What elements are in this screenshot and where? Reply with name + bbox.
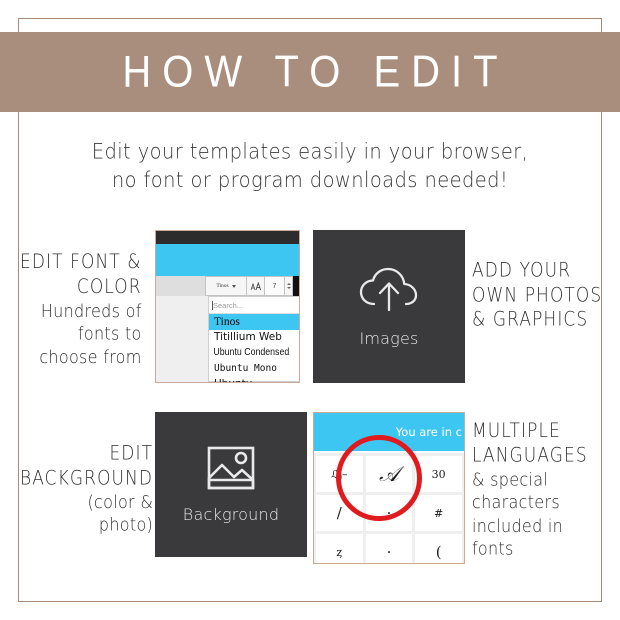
glyph-cell[interactable]: 30 bbox=[415, 456, 462, 492]
font-option-ubuntu-condensed[interactable]: Ubuntu Condensed bbox=[209, 345, 290, 361]
font-size-value: 7 bbox=[273, 283, 277, 290]
toolbar-spacer bbox=[156, 276, 205, 296]
glyph-banner: You are in c bbox=[314, 413, 464, 451]
languages-caps-2: LANGUAGES bbox=[472, 444, 588, 468]
font-color-low-3: choose from bbox=[20, 346, 142, 369]
images-label: Images bbox=[359, 329, 418, 348]
header-band: HOW TO EDIT bbox=[0, 32, 620, 112]
feature-label-photos: ADD YOUR OWN PHOTOS & GRAPHICS bbox=[472, 260, 612, 333]
chevron-down-icon bbox=[232, 285, 236, 288]
languages-low-4: fonts bbox=[472, 538, 588, 561]
feature-label-background: EDIT BACKGROUND (color & photo) bbox=[20, 443, 148, 538]
font-size-stepper[interactable] bbox=[285, 276, 293, 296]
feature-label-languages: MULTIPLE LANGUAGES & special characters … bbox=[472, 420, 614, 561]
cloud-upload-icon bbox=[357, 266, 421, 319]
background-low-2: photo) bbox=[20, 514, 153, 537]
page-title: HOW TO EDIT bbox=[111, 50, 508, 95]
glyph-grid: ℒⱼ– 𝒜 30 / · # ȥ · ( bbox=[314, 453, 464, 563]
photos-caps-3: & GRAPHICS bbox=[472, 309, 602, 333]
background-low-1: (color & bbox=[20, 491, 153, 514]
glyph-cell[interactable]: · bbox=[366, 534, 413, 564]
font-color-caps-1: EDIT FONT & bbox=[20, 251, 142, 275]
font-name-dropdown[interactable]: Tinos bbox=[205, 276, 247, 296]
font-name-value: Tinos bbox=[216, 283, 228, 289]
font-picker-screenshot: Tinos 7 Search... Tin bbox=[155, 230, 300, 383]
font-color-caps-2: COLOR bbox=[20, 276, 142, 300]
glyph-cell[interactable]: ( bbox=[415, 534, 462, 564]
glyph-banner-text: You are in c bbox=[396, 425, 462, 439]
images-button-panel[interactable]: Images bbox=[313, 230, 465, 383]
glyph-cell[interactable]: ℒⱼ– bbox=[316, 456, 363, 492]
poster-root: HOW TO EDIT Edit your templates easily i… bbox=[0, 0, 620, 620]
stepper-up-icon[interactable] bbox=[287, 283, 291, 285]
font-dropdown-list: Search... Tinos Titillium Web Ubuntu Con… bbox=[208, 296, 300, 382]
glyph-cell[interactable]: / bbox=[316, 495, 363, 531]
glyph-cell-highlighted[interactable]: 𝒜 bbox=[366, 456, 413, 492]
font-option-tinos[interactable]: Tinos bbox=[209, 314, 300, 330]
stepper-down-icon[interactable] bbox=[287, 287, 291, 289]
font-search-placeholder: Search... bbox=[213, 301, 243, 310]
glyph-cell[interactable]: · bbox=[366, 495, 413, 531]
glyph-cell[interactable]: ȥ bbox=[316, 534, 363, 564]
photos-caps-1: ADD YOUR bbox=[472, 260, 602, 284]
languages-low-1: & special bbox=[472, 469, 588, 492]
font-option-titillium-web[interactable]: Titillium Web bbox=[209, 330, 300, 346]
languages-low-3: included in bbox=[472, 515, 588, 538]
subtitle-line-2: no font or program downloads needed! bbox=[30, 166, 590, 195]
font-color-low-1: Hundreds of bbox=[20, 300, 142, 323]
app-banner bbox=[156, 244, 299, 276]
font-option-list: Tinos Titillium Web Ubuntu Condensed Ubu… bbox=[209, 314, 300, 383]
background-caps-2: BACKGROUND bbox=[20, 467, 153, 491]
subtitle-line-1: Edit your templates easily in your brows… bbox=[92, 139, 529, 164]
font-color-low-2: fonts to bbox=[20, 323, 142, 346]
font-option-ubuntu[interactable]: Ubuntu bbox=[209, 376, 300, 383]
languages-caps-1: MULTIPLE bbox=[472, 420, 588, 444]
background-button-panel[interactable]: Background bbox=[155, 412, 307, 557]
feature-label-font-color: EDIT FONT & COLOR Hundreds of fonts to c… bbox=[20, 251, 148, 369]
background-caps-1: EDIT bbox=[20, 443, 153, 467]
font-search-input[interactable]: Search... bbox=[209, 297, 300, 314]
text-size-icon bbox=[250, 282, 261, 291]
text-cursor bbox=[293, 276, 299, 296]
glyph-map-screenshot: You are in c ℒⱼ– 𝒜 30 / · # ȥ · ( bbox=[313, 412, 465, 564]
font-size-input[interactable]: 7 bbox=[265, 276, 285, 296]
font-option-ubuntu-mono[interactable]: Ubuntu Mono bbox=[209, 361, 300, 377]
photos-caps-2: OWN PHOTOS bbox=[472, 284, 602, 308]
app-titlebar bbox=[156, 231, 299, 244]
font-size-icon-button[interactable] bbox=[247, 276, 265, 296]
font-toolbar: Tinos 7 bbox=[156, 276, 299, 296]
background-label: Background bbox=[183, 505, 279, 524]
picture-icon bbox=[207, 446, 255, 495]
glyph-cell[interactable]: # bbox=[415, 495, 462, 531]
subtitle: Edit your templates easily in your brows… bbox=[30, 137, 590, 194]
languages-low-2: characters bbox=[472, 492, 588, 515]
